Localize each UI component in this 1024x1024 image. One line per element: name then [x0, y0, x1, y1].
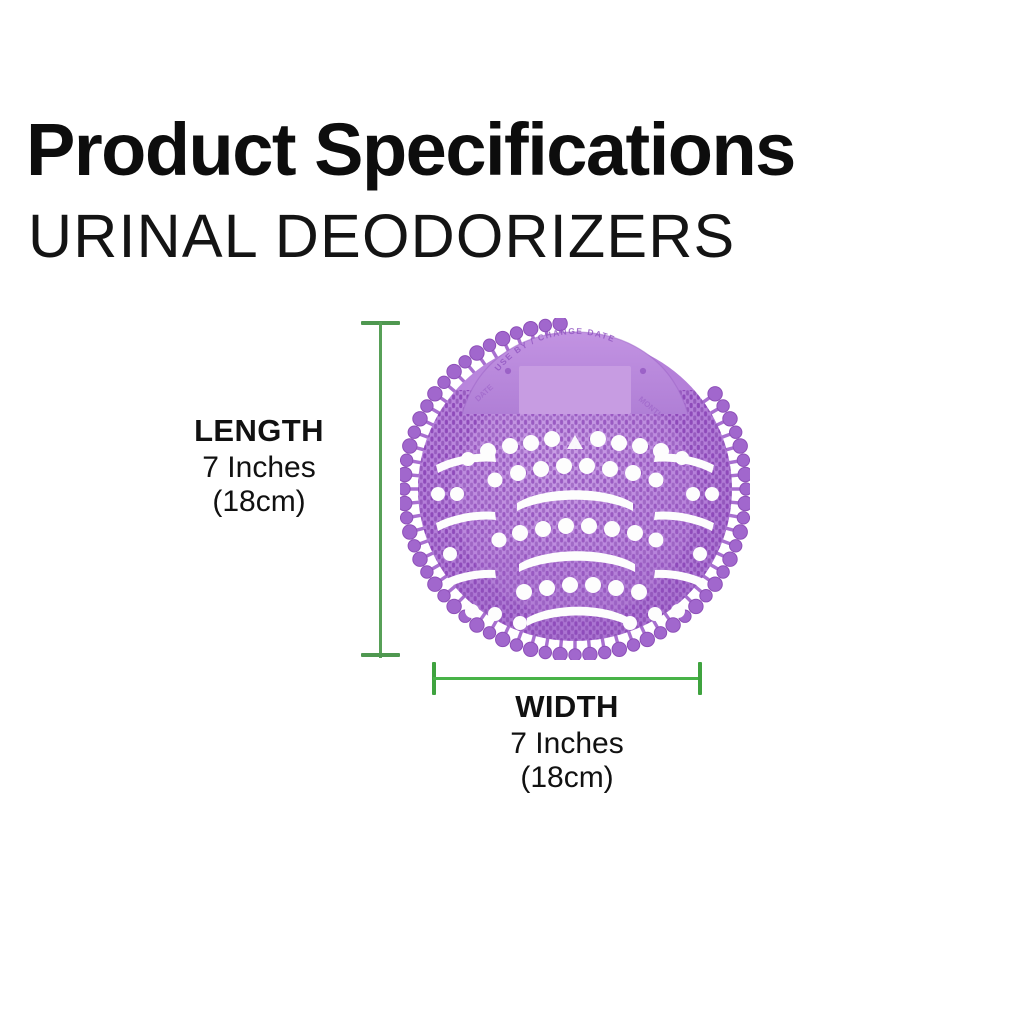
- width-guide-line: [433, 677, 701, 680]
- page-subtitle: URINAL DEODORIZERS: [28, 206, 735, 267]
- length-label: LENGTH: [109, 414, 409, 449]
- width-label: WIDTH: [417, 690, 717, 725]
- page-title: Product Specifications: [26, 113, 795, 187]
- length-guide-cap-bottom: [361, 653, 400, 657]
- length-spec-block: LENGTH 7 Inches (18cm): [109, 414, 409, 519]
- length-value: 7 Inches: [109, 451, 409, 485]
- product-label-panel: [519, 366, 631, 414]
- length-metric: (18cm): [109, 485, 409, 519]
- width-spec-block: WIDTH 7 Inches (18cm): [417, 690, 717, 795]
- product-image-urinal-screen: USE BY / CHANGE DATE DATE MONTH: [400, 318, 750, 660]
- width-value: 7 Inches: [417, 727, 717, 761]
- width-metric: (18cm): [417, 761, 717, 795]
- product-specification-card: Product Specifications URINAL DEODORIZER…: [0, 0, 1024, 1024]
